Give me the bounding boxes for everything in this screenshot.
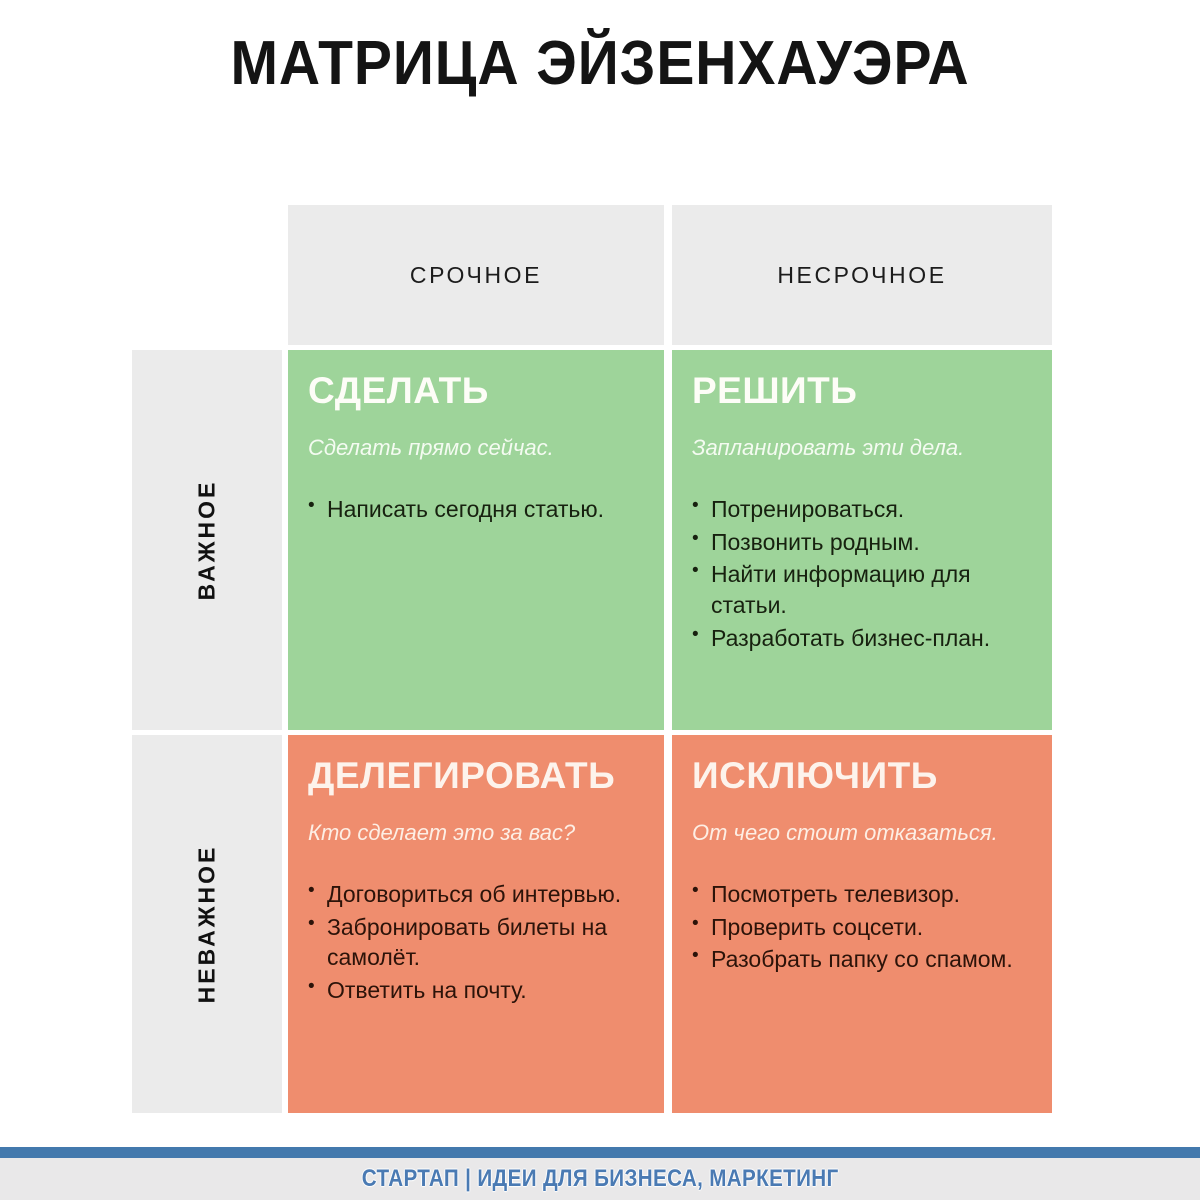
list-item: Позвонить родным. (692, 527, 1032, 558)
quadrant-delegate-heading: ДЕЛЕГИРОВАТЬ (308, 757, 644, 794)
list-item: Договориться об интервью. (308, 879, 644, 910)
footer-band: СТАРТАП | ИДЕИ ДЛЯ БИЗНЕСА, МАРКЕТИНГ (0, 1158, 1200, 1200)
column-header-urgent-label: СРОЧНОЕ (410, 262, 542, 289)
list-item: Разработать бизнес-план. (692, 623, 1032, 654)
quadrant-decide-list: Потренироваться. Позвонить родным. Найти… (692, 494, 1032, 653)
quadrant-decide: РЕШИТЬ Запланировать эти дела. Потрениро… (672, 350, 1052, 730)
column-header-row: СРОЧНОЕ НЕСРОЧНОЕ (132, 205, 1052, 345)
footer-accent-bar (0, 1147, 1200, 1158)
quadrant-delegate-subtitle: Кто сделает это за вас? (308, 820, 644, 845)
quadrant-delegate: ДЕЛЕГИРОВАТЬ Кто сделает это за вас? Дог… (288, 735, 664, 1113)
quadrant-decide-subtitle: Запланировать эти дела. (692, 435, 1032, 460)
page-title: МАТРИЦА ЭЙЗЕНХАУЭРА (48, 28, 1152, 99)
list-item: Потренироваться. (692, 494, 1032, 525)
quadrant-delete-list: Посмотреть телевизор. Проверить соцсети.… (692, 879, 1032, 975)
quadrant-do-list: Написать сегодня статью. (308, 494, 644, 525)
column-header-urgent: СРОЧНОЕ (288, 205, 664, 345)
list-item: Посмотреть телевизор. (692, 879, 1032, 910)
quadrant-do-subtitle: Сделать прямо сейчас. (308, 435, 644, 460)
corner-spacer (132, 205, 282, 345)
list-item: Забронировать билеты на самолёт. (308, 912, 644, 973)
quadrant-delegate-list: Договориться об интервью. Забронировать … (308, 879, 644, 1005)
row-header-important-label: ВАЖНОЕ (194, 480, 221, 601)
list-item: Разобрать папку со спамом. (692, 944, 1032, 975)
list-item: Ответить на почту. (308, 975, 644, 1006)
eisenhower-matrix: СРОЧНОЕ НЕСРОЧНОЕ ВАЖНОЕ НЕВАЖНОЕ СДЕЛАТ… (132, 205, 1052, 1113)
quadrant-do: СДЕЛАТЬ Сделать прямо сейчас. Написать с… (288, 350, 664, 730)
column-header-not-urgent-label: НЕСРОЧНОЕ (777, 262, 946, 289)
list-item: Найти информацию для статьи. (692, 559, 1032, 620)
column-header-not-urgent: НЕСРОЧНОЕ (672, 205, 1052, 345)
footer-branding-text: СТАРТАП | ИДЕИ ДЛЯ БИЗНЕСА, МАРКЕТИНГ (362, 1165, 839, 1193)
quadrant-delete-subtitle: От чего стоит отказаться. (692, 820, 1032, 845)
quadrant-delete: ИСКЛЮЧИТЬ От чего стоит отказаться. Посм… (672, 735, 1052, 1113)
list-item: Написать сегодня статью. (308, 494, 644, 525)
row-header-not-important: НЕВАЖНОЕ (132, 735, 282, 1113)
row-header-important: ВАЖНОЕ (132, 350, 282, 730)
quadrant-decide-heading: РЕШИТЬ (692, 372, 1032, 409)
list-item: Проверить соцсети. (692, 912, 1032, 943)
quadrant-delete-heading: ИСКЛЮЧИТЬ (692, 757, 1032, 794)
quadrant-do-heading: СДЕЛАТЬ (308, 372, 644, 409)
row-header-not-important-label: НЕВАЖНОЕ (194, 845, 221, 1004)
